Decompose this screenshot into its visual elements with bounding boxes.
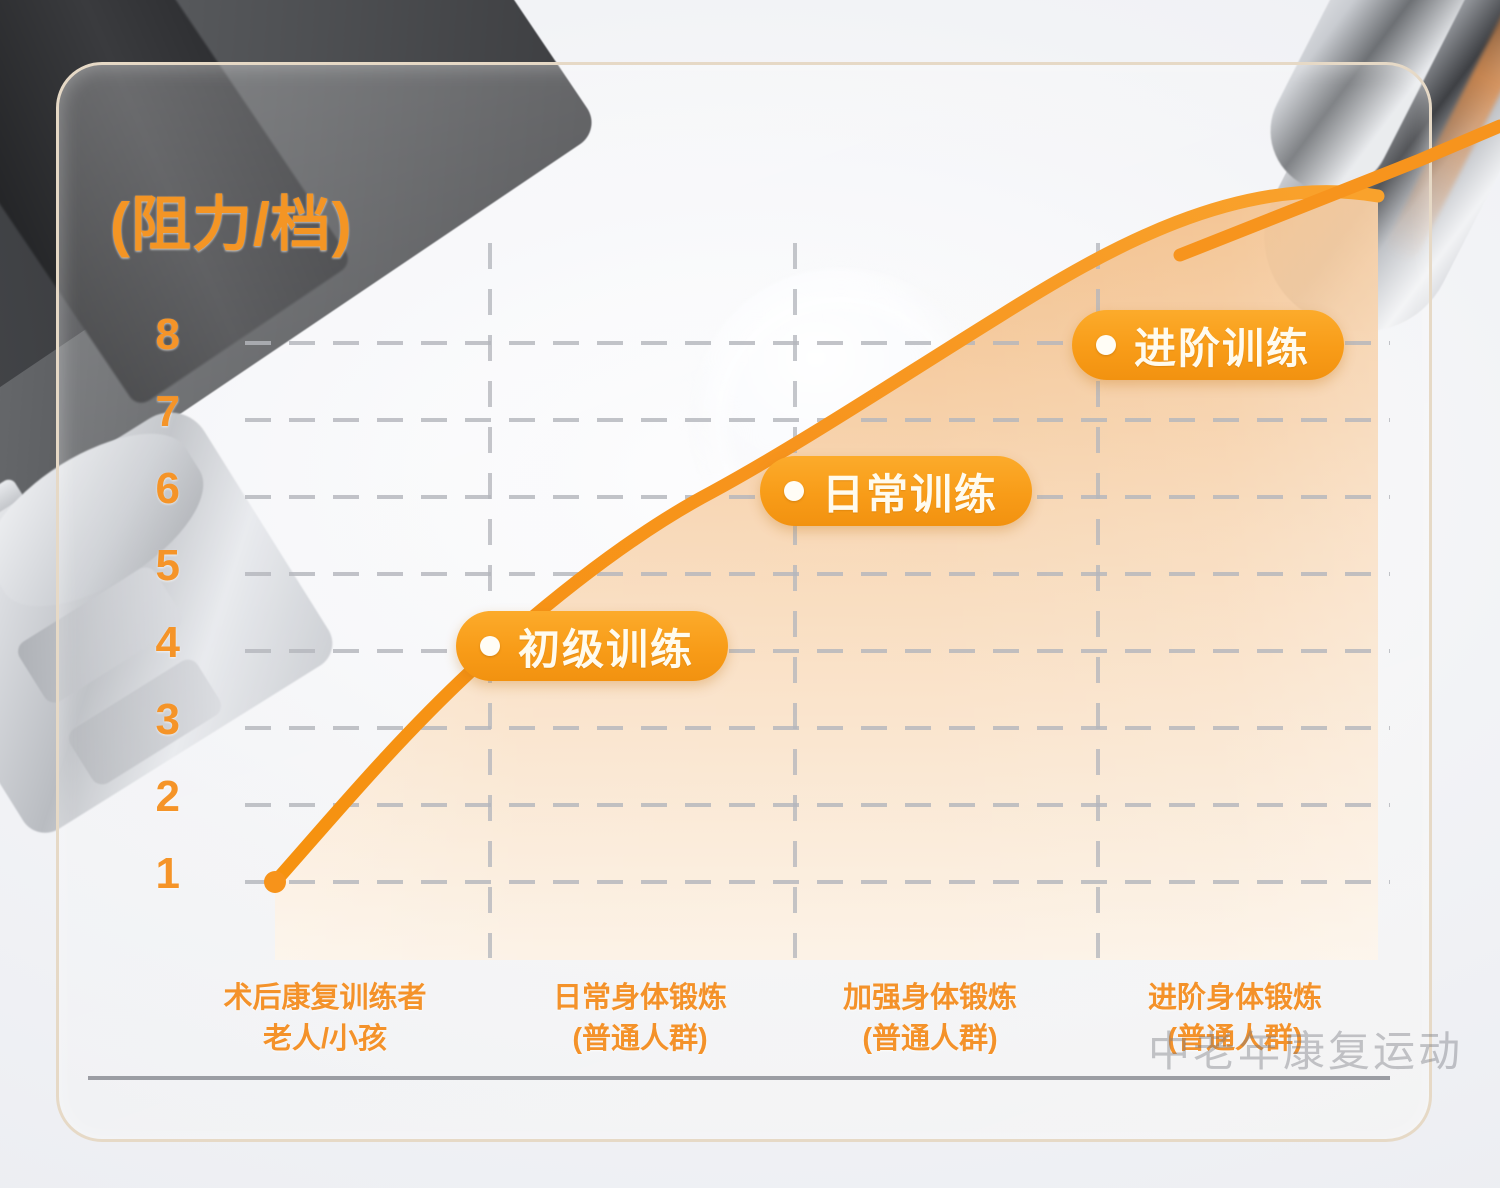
badge-beginner-training[interactable]: 初级训练 bbox=[456, 611, 728, 681]
badge-daily-training-label: 日常训练 bbox=[822, 461, 998, 522]
badge-dot-icon bbox=[480, 636, 500, 656]
y-tick-8: 8 bbox=[120, 310, 180, 360]
badge-advanced-training-label: 进阶训练 bbox=[1134, 315, 1310, 376]
y-tick-6: 6 bbox=[120, 464, 180, 514]
x-label-3-line1: 加强身体锻炼 bbox=[785, 978, 1075, 1019]
x-label-3: 加强身体锻炼 (普通人群) bbox=[785, 978, 1075, 1060]
chart: (阻力/档) 8 7 6 5 4 3 2 1 术后康复训练者 老人/小孩 日常身… bbox=[0, 0, 1500, 1188]
y-tick-1: 1 bbox=[120, 849, 180, 899]
y-tick-2: 2 bbox=[120, 772, 180, 822]
x-label-1-line2: 老人/小孩 bbox=[180, 1019, 470, 1060]
y-tick-7: 7 bbox=[120, 387, 180, 437]
badge-dot-icon bbox=[784, 481, 804, 501]
x-label-2-line1: 日常身体锻炼 bbox=[495, 978, 785, 1019]
series-start-point bbox=[264, 871, 286, 893]
badge-dot-icon bbox=[1096, 335, 1116, 355]
x-label-2-line2: (普通人群) bbox=[495, 1019, 785, 1060]
x-label-1-line1: 术后康复训练者 bbox=[180, 978, 470, 1019]
screenshot-root: (阻力/档) 8 7 6 5 4 3 2 1 术后康复训练者 老人/小孩 日常身… bbox=[0, 0, 1500, 1188]
y-tick-3: 3 bbox=[120, 695, 180, 745]
y-tick-4: 4 bbox=[120, 618, 180, 668]
badge-daily-training[interactable]: 日常训练 bbox=[760, 456, 1032, 526]
y-tick-5: 5 bbox=[120, 541, 180, 591]
badge-beginner-training-label: 初级训练 bbox=[518, 616, 694, 677]
watermark: 中老年康复运动 bbox=[1148, 1018, 1463, 1079]
x-label-1: 术后康复训练者 老人/小孩 bbox=[180, 978, 470, 1060]
x-label-3-line2: (普通人群) bbox=[785, 1019, 1075, 1060]
x-label-2: 日常身体锻炼 (普通人群) bbox=[495, 978, 785, 1060]
x-label-4-line1: 进阶身体锻炼 bbox=[1090, 978, 1380, 1019]
y-axis-title: (阻力/档) bbox=[110, 176, 353, 263]
badge-advanced-training[interactable]: 进阶训练 bbox=[1072, 310, 1344, 380]
